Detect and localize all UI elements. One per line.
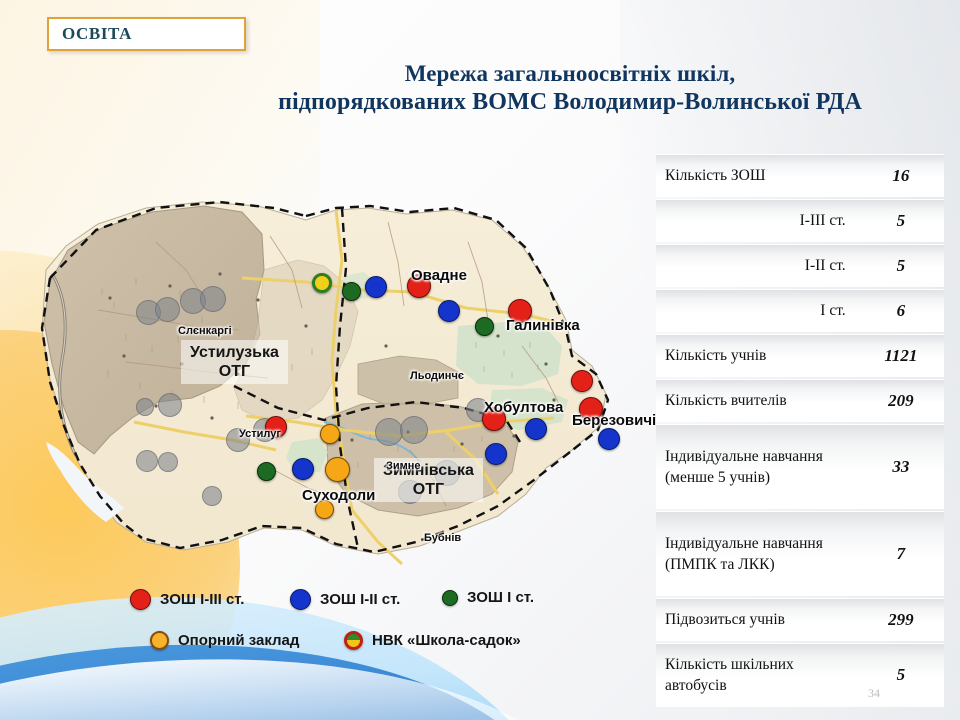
marker-novosilky: [320, 424, 340, 444]
stat-value-stupin-1-3: 5: [858, 199, 944, 242]
table-row: I-II ст.5: [656, 244, 944, 287]
table-row: Підвозиться учнів299: [656, 598, 944, 641]
legend-zosh-1-2-icon: [290, 589, 311, 610]
legend-nvk-label: НВК «Школа-садок»: [372, 632, 521, 649]
map-overlay-blob: [158, 393, 182, 417]
table-row: Індивідуальне навчання (ПМПК та ЛКК)7: [656, 511, 944, 596]
table-row: Кількість ЗОШ16: [656, 154, 944, 197]
table-row: Індивідуальне навчання (менше 5 учнів)33: [656, 424, 944, 509]
map-overlay-blob: [400, 416, 428, 444]
page-title: Мережа загальноосвітніх шкіл, підпорядко…: [180, 60, 960, 116]
marker-khmeliv-east: [598, 428, 620, 450]
marker-lasiv: [292, 458, 314, 480]
marker-verba: [365, 276, 387, 298]
stat-value-kilkist-zosh: 16: [858, 154, 944, 197]
map-label-lyudynyche: Льодинчє: [410, 370, 464, 382]
map-overlay-blob: [202, 486, 222, 506]
marker-bilyn-nvk: [312, 273, 332, 293]
marker-khmeliv: [485, 443, 507, 465]
map-label-ustyluh: Устилуг: [239, 428, 281, 440]
stat-label-kilkist-vchyteliv: Кількість вчителів: [656, 379, 858, 422]
table-row: Кількість учнів1121: [656, 334, 944, 377]
legend-zosh-1-3-icon: [130, 589, 151, 610]
stat-label-kilkist-zosh: Кількість ЗОШ: [656, 154, 858, 197]
district-map: ОваднеГалинівкаХобултоваБерезовичіСуходо…: [6, 150, 626, 580]
legend-zosh-1-2: ЗОШ I-II ст.: [290, 589, 400, 610]
marker-makutsevychi: [525, 418, 547, 440]
stat-label-shkilni-avtobusy: Кількість шкільних автобусів: [656, 643, 858, 707]
map-overlay-blob: [136, 450, 158, 472]
stat-value-indyv-pmpk: 7: [858, 511, 944, 596]
legend-zosh-1: ЗОШ I ст.: [442, 589, 534, 606]
marker-zapadnyi: [257, 462, 276, 481]
map-label-slensarhi: Слєнкаргі: [178, 325, 232, 337]
map-legend: ЗОШ I-III ст.ЗОШ I-II ст.ЗОШ I ст.Опорни…: [120, 585, 590, 665]
table-row: I ст.6: [656, 289, 944, 332]
stat-value-kilkist-vchyteliv: 209: [858, 379, 944, 422]
stat-value-stupin-1: 6: [858, 289, 944, 332]
map-overlay-blob: [158, 452, 178, 472]
map-overlay-blob: [375, 418, 403, 446]
section-badge-label: ОСВІТА: [49, 24, 132, 44]
stat-label-stupin-1: I ст.: [656, 289, 858, 332]
legend-zosh-1-3: ЗОШ I-III ст.: [130, 589, 244, 610]
map-overlay-blob: [136, 398, 154, 416]
stat-label-stupin-1-2: I-II ст.: [656, 244, 858, 287]
map-label-khobultova: Хобултова: [484, 399, 563, 416]
legend-zosh-1-label: ЗОШ I ст.: [467, 589, 534, 606]
legend-zosh-1-2-label: ЗОШ I-II ст.: [320, 591, 400, 608]
stat-value-indyv-menshe-5: 33: [858, 424, 944, 509]
legend-zosh-1-icon: [442, 590, 458, 606]
stat-label-pidvozytsya: Підвозиться учнів: [656, 598, 858, 641]
legend-oporny: Опорний заклад: [150, 631, 299, 650]
map-label-zymne: Зимне: [386, 460, 421, 472]
map-overlay-blob: [155, 297, 180, 322]
table-row: Кількість шкільних автобусів5: [656, 643, 944, 707]
statistics-table: Кількість ЗОШ16I-III ст.5I-II ст.5I ст.6…: [656, 152, 944, 709]
stat-label-stupin-1-3: I-III ст.: [656, 199, 858, 242]
table-row: Кількість вчителів209: [656, 379, 944, 422]
page-title-line1: Мережа загальноосвітніх шкіл,: [180, 60, 960, 88]
stat-value-pidvozytsya: 299: [858, 598, 944, 641]
legend-nvk: НВК «Школа-садок»: [344, 631, 521, 650]
map-otg-line2: ОТГ: [383, 480, 474, 499]
map-canvas: [6, 150, 626, 580]
map-overlay-blob: [200, 286, 226, 312]
map-label-sukhodoly: Суходоли: [302, 487, 375, 504]
marker-osmyjivka: [342, 282, 361, 301]
map-label-berezovychi: Березовичі: [572, 412, 656, 429]
map-label-halynivka: Галинівка: [506, 317, 580, 334]
marker-zhovtneve: [438, 300, 460, 322]
section-badge: ОСВІТА: [47, 17, 246, 51]
stat-label-kilkist-uchniv: Кількість учнів: [656, 334, 858, 377]
map-otg-line2: ОТГ: [190, 362, 279, 381]
stat-value-stupin-1-2: 5: [858, 244, 944, 287]
map-label-bubniv: Бубнів: [424, 532, 461, 544]
map-label-ovadne: Овадне: [411, 267, 467, 284]
legend-zosh-1-3-label: ЗОШ I-III ст.: [160, 591, 244, 608]
marker-east-top: [571, 370, 593, 392]
legend-nvk-icon: [344, 631, 363, 650]
page-title-line2: підпорядкованих ВОМС Володимир-Волинсько…: [180, 88, 960, 116]
map-otg-line1: Устилузька: [190, 343, 279, 362]
map-otg-ustyluzka-otg: УстилузькаОТГ: [181, 340, 288, 384]
legend-oporny-icon: [150, 631, 169, 650]
stat-label-indyv-pmpk: Індивідуальне навчання (ПМПК та ЛКК): [656, 511, 858, 596]
stat-label-indyv-menshe-5: Індивідуальне навчання (менше 5 учнів): [656, 424, 858, 509]
legend-oporny-label: Опорний заклад: [178, 632, 299, 649]
page-number: 34: [868, 686, 880, 701]
marker-lyudmylopil: [475, 317, 494, 336]
table-row: I-III ст.5: [656, 199, 944, 242]
marker-sukhodoly: [325, 457, 350, 482]
stat-value-kilkist-uchniv: 1121: [858, 334, 944, 377]
